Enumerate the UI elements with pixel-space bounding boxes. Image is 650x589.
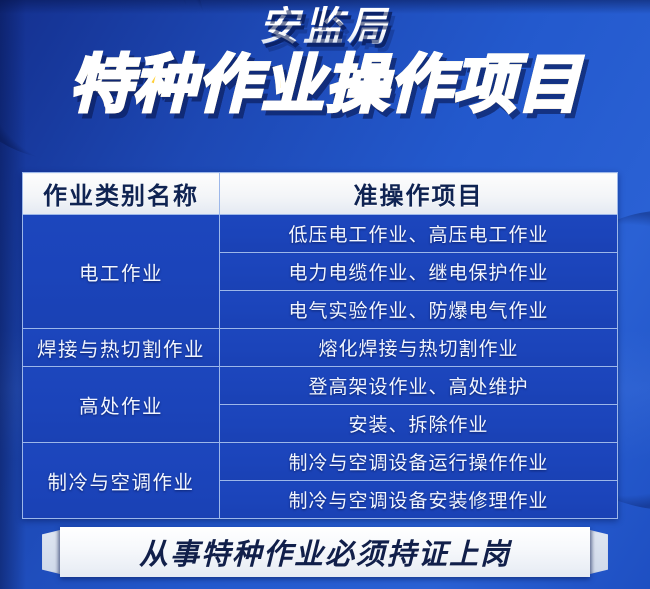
column-header-category: 作业类别名称 bbox=[23, 173, 220, 215]
table-header-row: 作业类别名称 准操作项目 bbox=[23, 173, 618, 215]
cell-category: 焊接与热切割作业 bbox=[23, 329, 220, 367]
footer-ribbon: 从事特种作业必须持证上岗 bbox=[42, 527, 608, 577]
cell-item: 制冷与空调设备安装修理作业 bbox=[220, 481, 618, 519]
subtitle-authority: 安监局 bbox=[0, 6, 650, 49]
cell-item: 安装、拆除作业 bbox=[220, 405, 618, 443]
page-title: 特种作业操作项目 bbox=[0, 51, 650, 120]
cell-category: 高处作业 bbox=[23, 367, 220, 443]
table-row: 高处作业 登高架设作业、高处维护 bbox=[23, 367, 618, 405]
operations-table: 作业类别名称 准操作项目 电工作业 低压电工作业、高压电工作业 电力电缆作业、继… bbox=[22, 172, 618, 519]
column-header-items: 准操作项目 bbox=[220, 173, 618, 215]
cell-item: 制冷与空调设备运行操作作业 bbox=[220, 443, 618, 481]
table-row: 焊接与热切割作业 熔化焊接与热切割作业 bbox=[23, 329, 618, 367]
ribbon-fold-right-icon bbox=[590, 530, 608, 574]
cell-item: 电气实验作业、防爆电气作业 bbox=[220, 291, 618, 329]
footer-slogan: 从事特种作业必须持证上岗 bbox=[60, 527, 590, 577]
table-row: 制冷与空调作业 制冷与空调设备运行操作作业 bbox=[23, 443, 618, 481]
cell-item: 低压电工作业、高压电工作业 bbox=[220, 215, 618, 253]
ribbon-fold-left-icon bbox=[42, 530, 60, 574]
cell-item: 电力电缆作业、继电保护作业 bbox=[220, 253, 618, 291]
cell-category: 制冷与空调作业 bbox=[23, 443, 220, 519]
table-row: 电工作业 低压电工作业、高压电工作业 bbox=[23, 215, 618, 253]
cell-category: 电工作业 bbox=[23, 215, 220, 329]
title-block: 安监局 特种作业操作项目 bbox=[0, 6, 650, 120]
cell-item: 熔化焊接与热切割作业 bbox=[220, 329, 618, 367]
cell-item: 登高架设作业、高处维护 bbox=[220, 367, 618, 405]
poster-container: 安监局 特种作业操作项目 作业类别名称 准操作项目 电工作业 低压电工作业、高压… bbox=[0, 0, 650, 589]
